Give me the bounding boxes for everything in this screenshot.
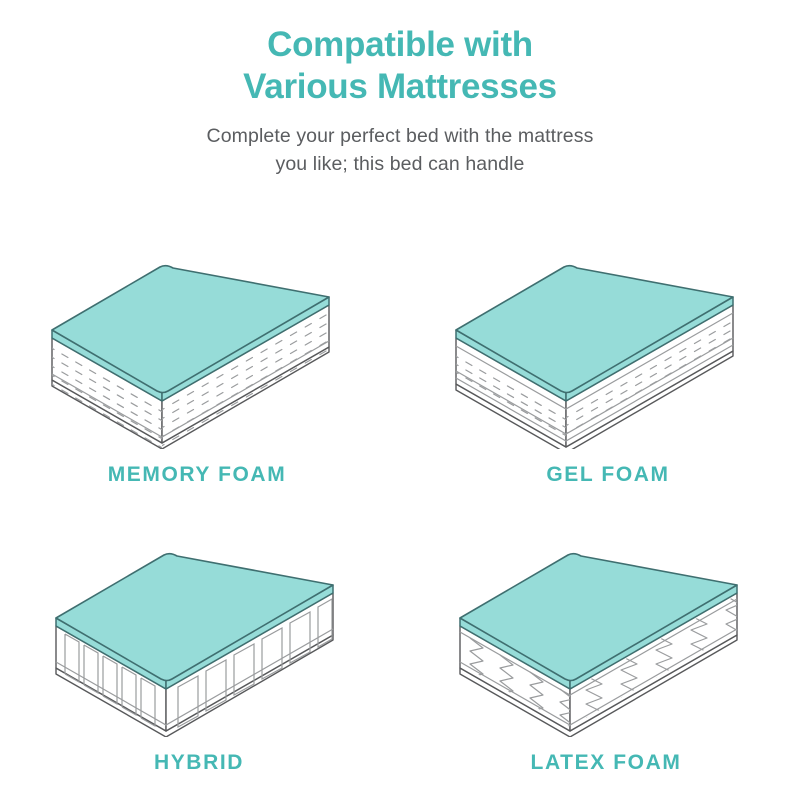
header: Compatible with Various Mattresses Compl… xyxy=(0,0,800,178)
mattress-card-latex-foam: LATEX FOAM xyxy=(400,504,800,800)
mattress-label-gel-foam: GEL FOAM xyxy=(546,463,669,487)
gel-foam-illustration xyxy=(446,234,746,449)
page-title-line-1: Compatible with xyxy=(120,24,680,66)
mattress-card-memory-foam: MEMORY FOAM xyxy=(0,208,400,504)
mattress-grid: MEMORY FOAM xyxy=(0,208,800,800)
page-title-line-2: Various Mattresses xyxy=(120,66,680,108)
page-subtitle-line-2: you like; this bed can handle xyxy=(130,150,670,178)
latex-foam-illustration xyxy=(450,522,750,737)
page-subtitle-line-1: Complete your perfect bed with the mattr… xyxy=(130,122,670,150)
page-title: Compatible with Various Mattresses xyxy=(120,24,680,108)
page-subtitle: Complete your perfect bed with the mattr… xyxy=(130,122,670,178)
memory-foam-illustration xyxy=(42,234,342,449)
mattress-label-memory-foam: MEMORY FOAM xyxy=(108,463,287,487)
mattress-label-hybrid: HYBRID xyxy=(154,751,244,775)
mattress-label-latex-foam: LATEX FOAM xyxy=(531,751,682,775)
hybrid-illustration xyxy=(46,522,346,737)
mattress-card-gel-foam: GEL FOAM xyxy=(400,208,800,504)
mattress-card-hybrid: HYBRID xyxy=(0,504,400,800)
mattress-compatibility-graphic: Compatible with Various Mattresses Compl… xyxy=(0,0,800,800)
